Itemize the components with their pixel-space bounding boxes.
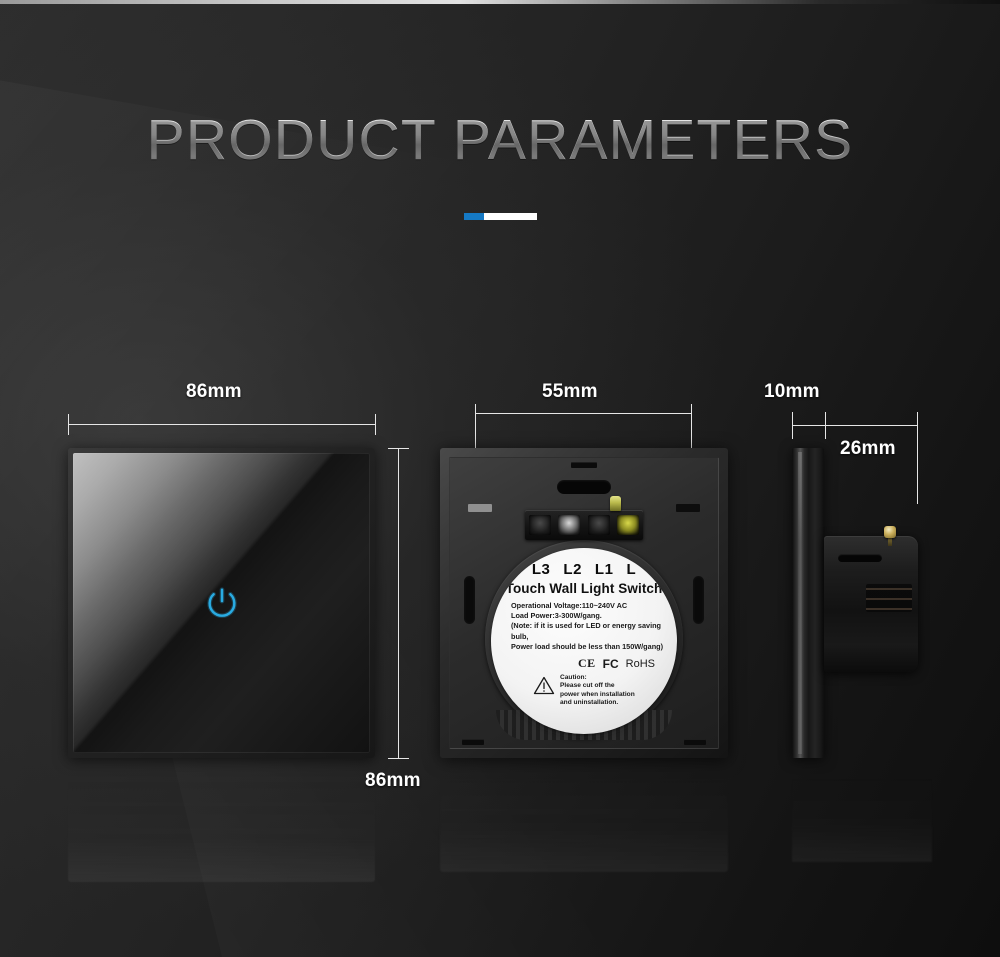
ce-mark: CE	[578, 656, 596, 671]
page-title: PRODUCT PARAMETERS	[0, 108, 1000, 172]
side-vent-grille	[866, 584, 912, 612]
label-spec-note-1: (Note: if it is used for LED or energy s…	[497, 621, 671, 641]
dimension-label-front-width: 86mm	[186, 381, 242, 403]
dimension-line-front-height	[398, 448, 399, 758]
front-panel-view	[68, 448, 375, 758]
mounting-clip-bottom-right	[684, 739, 706, 745]
fcc-mark: FC	[603, 657, 619, 671]
dimension-label-glass-thickness: 10mm	[764, 381, 820, 403]
caution-notice: Caution: Please cut off the power when i…	[497, 674, 671, 708]
dimension-line-module-depth	[825, 425, 918, 426]
mounting-tab-top-right	[676, 504, 700, 512]
dimension-label-back-width: 55mm	[542, 381, 598, 403]
title-divider	[0, 213, 1000, 220]
earth-wire-connector	[610, 496, 621, 511]
terminal-marking-l3: L3	[532, 561, 551, 579]
cable-slot-right	[693, 576, 704, 624]
side-profile-reflection	[792, 762, 932, 862]
product-parameters-page: PRODUCT PARAMETERS 86mm 86mm 55mm 10mm 2…	[0, 0, 1000, 957]
terminal-l1	[588, 515, 610, 535]
side-module-body	[824, 536, 918, 672]
divider-white-segment	[484, 213, 537, 220]
dimension-line-front-width	[68, 424, 375, 425]
label-spec-voltage: Operational Voltage:110~240V AC	[497, 601, 671, 611]
dimension-label-front-height: 86mm	[365, 770, 421, 792]
label-terminal-markings: L3 L2 L1 L	[497, 561, 671, 579]
mounting-tab-top-left	[468, 504, 492, 512]
terminal-marking-l: L	[626, 561, 636, 579]
dimension-tick-front-width-right	[375, 414, 376, 435]
rohs-mark: RoHS	[626, 658, 655, 670]
side-glass-plate	[792, 448, 824, 758]
mounting-clip-bottom-left	[462, 739, 484, 745]
side-cable-slot	[838, 554, 882, 562]
terminal-block	[525, 510, 643, 540]
terminal-l2	[558, 515, 580, 535]
caution-line-1: Please cut off the	[560, 682, 635, 690]
top-highlight-strip	[0, 0, 1000, 4]
caution-line-2: power when installation	[560, 691, 635, 699]
dimension-tick-front-width-left	[68, 414, 69, 435]
dimension-tick-front-height-top	[388, 448, 409, 449]
divider-blue-segment	[464, 213, 484, 220]
cable-slot-left	[464, 576, 475, 624]
caution-line-3: and uninstallation.	[560, 699, 635, 707]
page-header: PRODUCT PARAMETERS	[0, 108, 1000, 172]
terminal-l	[617, 515, 639, 535]
dimension-line-back-width	[475, 413, 691, 414]
back-panel-view: L3 L2 L1 L Touch Wall Light Switch Opera…	[440, 448, 728, 758]
certification-marks: CE FC RoHS	[497, 656, 671, 671]
back-panel-frame: L3 L2 L1 L Touch Wall Light Switch Opera…	[440, 448, 728, 758]
power-icon	[203, 584, 241, 622]
label-spec-note-2: Power load should be less than 150W/gang…	[497, 642, 671, 652]
caution-heading: Caution:	[560, 674, 635, 682]
terminal-marking-l2: L2	[563, 561, 582, 579]
dimension-line-glass-thickness	[792, 425, 826, 426]
terminal-marking-l1: L1	[595, 561, 614, 579]
front-panel-reflection	[68, 762, 375, 882]
label-spec-power: Load Power:3-300W/gang.	[497, 611, 671, 621]
side-brass-screw	[884, 526, 896, 538]
product-label: L3 L2 L1 L Touch Wall Light Switch Opera…	[491, 548, 677, 734]
label-specs: Operational Voltage:110~240V AC Load Pow…	[497, 601, 671, 652]
back-panel-reflection	[440, 762, 728, 872]
side-profile-view	[792, 448, 932, 758]
label-product-name: Touch Wall Light Switch	[497, 580, 671, 598]
dimension-tick-front-height-bottom	[388, 758, 409, 759]
terminal-l3	[529, 515, 551, 535]
cable-slot-top	[557, 480, 611, 494]
mounting-clip-top	[571, 462, 597, 468]
dimension-tick-glass-left	[792, 412, 793, 439]
warning-triangle-icon	[533, 676, 555, 695]
